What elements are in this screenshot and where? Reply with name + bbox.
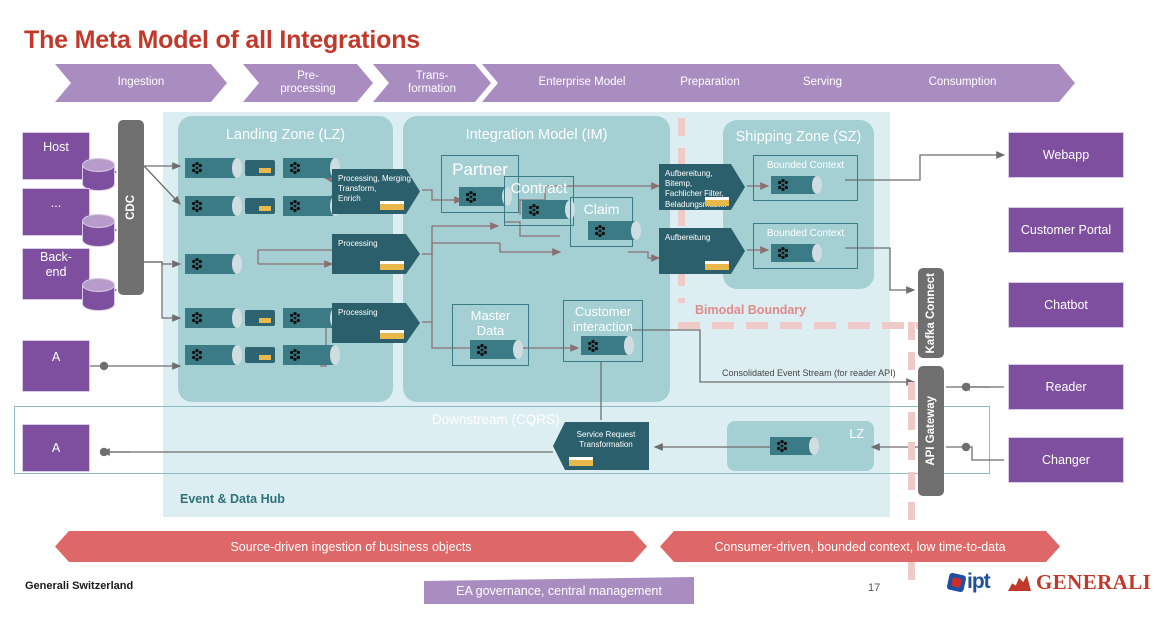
consumer-box-reader[interactable]: Reader [1008,364,1124,410]
ipt-logo: ipt [948,570,990,594]
generali-logo-text: GENERALI [1036,570,1151,595]
consumer-box-label: Reader [1046,380,1087,395]
page-number: 17 [868,582,880,594]
lz-process-2: Processing [332,234,420,274]
lz-data-node-3 [185,254,237,274]
database-top [82,214,115,228]
bottom-banner-label: Consumer-driven, bounded context, low ti… [714,540,1005,554]
lz-process-1: Processing, MergingTransform,Enrich [332,169,420,214]
pipeline-stage-label: Trans-formation [408,70,456,96]
database-top [82,158,115,172]
lz-storage-node-2 [245,198,275,214]
pipeline-stage-label: Pre-processing [280,70,336,96]
load-chip-icon [705,261,729,270]
consumer-box-label: Webapp [1043,148,1089,163]
snowflake-icon [475,343,489,357]
preparation-process-1: Aufbereitung, Bitemp,Fachlicher Filter,B… [659,164,745,210]
source-box-label: A [52,350,60,365]
snowflake-icon [464,190,478,204]
bar-label: CDC [125,195,137,220]
lz-data-node-1 [185,158,237,178]
service-request-transformation: Service RequestTransformation [553,422,649,470]
storage-tab-icon [259,355,271,360]
preparation-process-2: Aufbereitung [659,228,745,274]
bounded-context-title: Bounded Context [754,228,857,239]
process-label: Aufbereitung [665,233,739,243]
load-chip-icon [705,197,729,206]
snowflake-icon [190,199,204,213]
bimodal-boundary-vertical-dash [678,118,685,303]
lz-data-node-out-5 [283,345,335,365]
snowflake-icon [190,257,204,271]
entity-title: Contract [505,181,573,198]
lz-data-node-2 [185,196,237,216]
snowflake-icon [190,348,204,362]
cylinder-cap [624,336,634,355]
pipeline-stage-consumption: Consumption [850,64,1075,102]
cylinder-cap [812,244,822,262]
source-box-[interactable]: ... [22,188,90,236]
snowflake-icon [593,224,607,238]
service-request-transformation-label: Service RequestTransformation [569,430,643,450]
pipeline-stage-label: Enterprise Model [539,76,626,89]
cylinder-cap [812,176,822,194]
snowflake-icon [288,348,302,362]
cylinder-cap [232,254,242,274]
entity-title: Claim [571,202,632,218]
snowflake-icon [776,178,790,192]
downstream-source-box-a[interactable]: A [22,424,90,472]
bounded-context-data-node [771,244,817,262]
snowflake-icon [190,161,204,175]
consumer-box-webapp[interactable]: Webapp [1008,132,1124,178]
snowflake-icon [775,439,789,453]
footer-brand: Generali Switzerland [25,580,133,592]
cylinder-cap [513,340,523,359]
source-box-backend[interactable]: Back-end [22,248,90,300]
lz-data-node-out-1 [283,158,335,178]
pipeline-stage-transformation: Trans-formation [373,64,491,102]
storage-tab-icon [259,318,271,323]
cylinder-cap [232,345,242,365]
entity-data-node [581,336,629,355]
consumer-box-label: Chatbot [1044,298,1088,313]
load-chip-icon [380,201,404,210]
cylinder-cap [232,308,242,328]
cylinder-cap [232,158,242,178]
source-box-label: ... [51,196,61,211]
cylinder-cap [631,221,641,240]
entity-title: Customerinteraction [564,305,642,334]
integration-model-title: Integration Model (IM) [403,127,670,143]
database-icon [82,214,115,250]
load-chip-icon [569,457,593,466]
pipeline-stage-ingestion: Ingestion [55,64,227,102]
lz-storage-node-1 [245,160,275,176]
pipeline-stage-label: Ingestion [118,76,165,89]
source-box-a[interactable]: A [22,340,90,392]
consumer-box-label: Changer [1042,453,1090,468]
snowflake-icon [288,311,302,325]
bounded-context-title: Bounded Context [754,160,857,171]
source-box-label: Back-end [40,250,72,280]
pipeline-stage-preprocessing: Pre-processing [243,64,373,102]
landing-zone-title: Landing Zone (LZ) [178,127,393,143]
downstream-source-label: A [52,441,60,456]
database-icon [82,278,115,314]
bar-label: Kafka Connect [925,273,937,354]
page-title: The Meta Model of all Integrations [24,26,420,55]
lz-storage-node-4 [245,310,275,326]
bottom-banner-2: Consumer-driven, bounded context, low ti… [660,531,1060,562]
entity-data-node [522,200,570,219]
entity-data-node [459,187,507,206]
load-chip-icon [380,330,404,339]
pipeline-chevron-bar: IngestionPre-processingTrans-formationEn… [55,64,1075,102]
snowflake-icon [586,339,600,353]
pipeline-stage-label: Serving [803,76,842,89]
pipeline-stage-label: Preparation [680,76,739,89]
source-box-label: Host [43,140,69,155]
snowflake-icon [288,199,302,213]
entity-data-node [470,340,518,359]
consumer-box-label: Customer Portal [1021,223,1111,238]
lz-data-node-4 [185,308,237,328]
entity-data-node [588,221,636,240]
lz-data-node-out-4 [283,308,335,328]
bimodal-boundary-horizontal-dash [678,322,918,329]
process-label: Processing [338,308,414,318]
ea-governance-banner: EA governance, central management [424,577,694,604]
generali-logo: GENERALI [1008,570,1151,595]
source-box-host[interactable]: Host [22,132,90,180]
snowflake-icon [190,311,204,325]
lz-storage-node-5 [245,347,275,363]
database-top [82,278,115,292]
bar-kafka-connect[interactable]: Kafka Connect [918,268,944,358]
snowflake-icon [288,161,302,175]
ipt-logo-text: ipt [967,570,990,594]
generali-lion-icon [1008,574,1031,591]
load-chip-icon [380,261,404,270]
consumer-box-chatbot[interactable]: Chatbot [1008,282,1124,328]
cylinder-cap [809,437,819,455]
entity-title: MasterData [453,309,528,338]
pipeline-stage-label: Consumption [929,76,997,89]
bar-api-gateway[interactable]: API Gateway [918,366,944,496]
bottom-banner-label: Source-driven ingestion of business obje… [230,540,471,554]
bounded-context-data-node [771,176,817,194]
consumer-box-customer-portal[interactable]: Customer Portal [1008,207,1124,253]
downstream-lz-data-node [770,437,814,455]
event-data-hub-label: Event & Data Hub [180,492,285,506]
downstream-cqrs-label: Downstream (CQRS) [432,412,560,427]
bimodal-boundary-label: Bimodal Boundary [695,303,806,317]
consumer-box-changer[interactable]: Changer [1008,437,1124,483]
consolidated-event-stream-label: Consolidated Event Stream (for reader AP… [722,368,896,378]
bar-cdc[interactable]: CDC [118,120,144,295]
cylinder-cap [232,196,242,216]
snowflake-icon [527,203,541,217]
ipt-mark-icon [946,572,966,592]
lz-process-3: Processing [332,303,420,343]
process-label: Processing [338,239,414,249]
bar-label: API Gateway [925,396,937,466]
shipping-zone-title: Shipping Zone (SZ) [723,129,874,145]
lz-data-node-out-2 [283,196,335,216]
lz-data-node-5 [185,345,237,365]
storage-tab-icon [259,168,271,173]
snowflake-icon [776,246,790,260]
storage-tab-icon [259,206,271,211]
cylinder-cap [330,345,340,365]
bottom-banner-1: Source-driven ingestion of business obje… [55,531,647,562]
